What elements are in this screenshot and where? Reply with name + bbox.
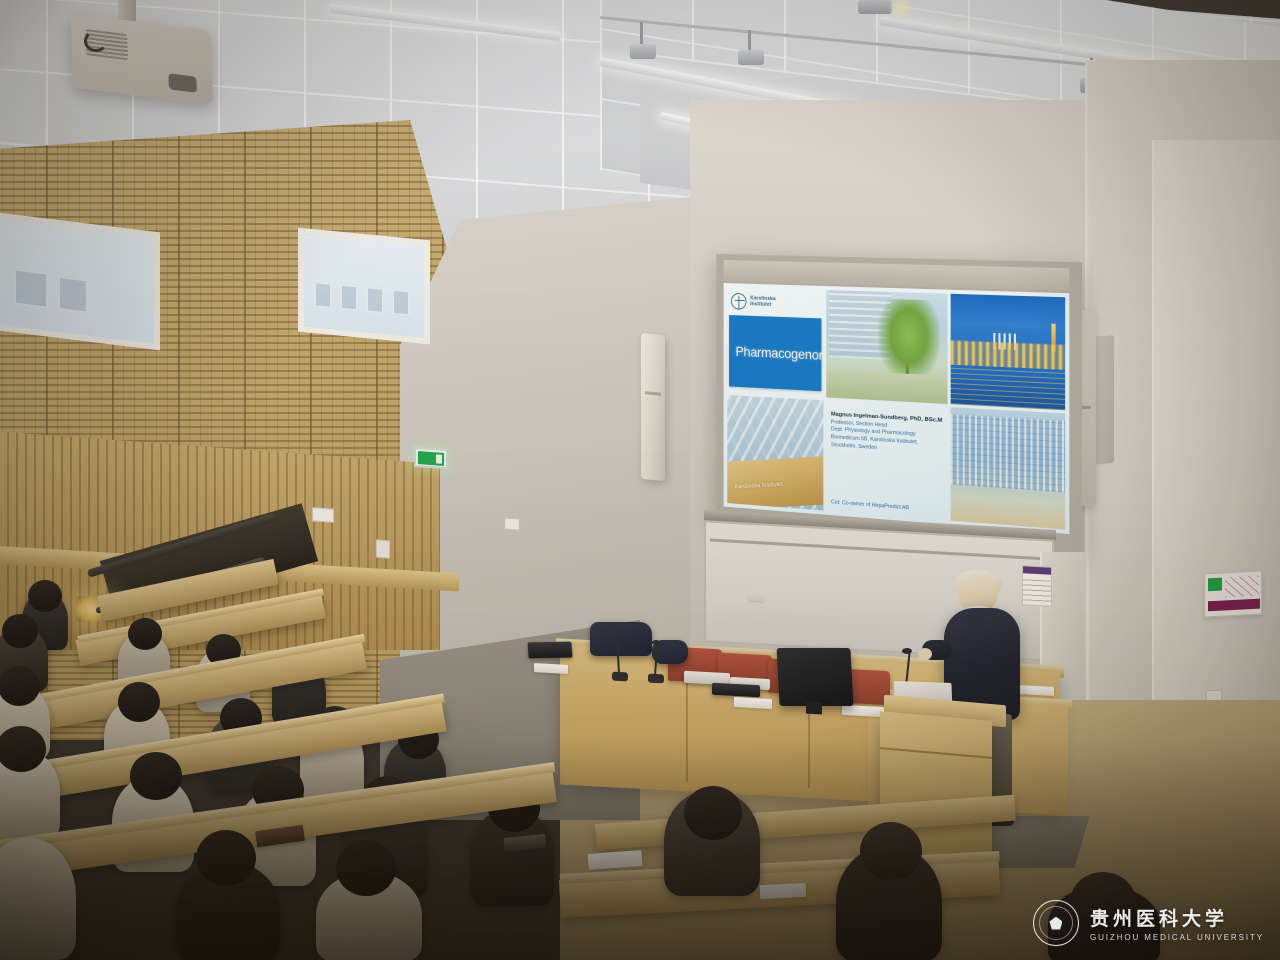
- floor-plan-diagram: [1225, 576, 1259, 598]
- emergency-exit-icon: [1208, 578, 1222, 592]
- lecture-hall-photo: Karolinska Institutet Pharmacogenomics: [0, 0, 1280, 960]
- window-building-detail: [58, 276, 88, 314]
- campus-courtyard-photo: [826, 290, 947, 404]
- tree-canopy: [879, 298, 940, 382]
- notice-text-lines: [1023, 576, 1051, 601]
- watermark-chinese-name: 贵州医科大学: [1090, 904, 1264, 931]
- exit-icon: [418, 451, 444, 466]
- slide-title: Pharmacogenomics: [736, 344, 824, 364]
- ki-wordmark: Karolinska Institutet: [750, 295, 776, 308]
- evacuation-sign-footer: [1208, 599, 1260, 612]
- window-building-detail: [366, 286, 384, 314]
- wall-notice-sign: [1022, 565, 1052, 607]
- notice-header-bar: [1023, 566, 1051, 574]
- monitor-stand: [806, 702, 822, 715]
- laptop-case[interactable]: [712, 683, 760, 698]
- ki-logo-line2: Institutet: [750, 301, 776, 308]
- podium-microphone-head: [902, 648, 912, 654]
- watermark-english-name: GUIZHOU MEDICAL UNIVERSITY: [1090, 933, 1264, 942]
- av-control-unit[interactable]: [527, 642, 572, 659]
- presentation-slide: Karolinska Institutet Pharmacogenomics: [724, 283, 1070, 534]
- microphone-head: [652, 640, 660, 645]
- window-building-detail: [314, 281, 332, 309]
- water-reflection: [950, 365, 1065, 411]
- notebook[interactable]: [760, 883, 807, 899]
- audience-head: [684, 786, 742, 840]
- university-seal-icon: [1033, 900, 1079, 946]
- watermark: 贵州医科大学 GUIZHOU MEDICAL UNIVERSITY: [1033, 900, 1264, 946]
- karolinska-institutet-logo: Karolinska Institutet: [727, 287, 823, 316]
- audience-head: [860, 822, 922, 880]
- audience-head: [336, 840, 396, 896]
- window-building-detail: [392, 289, 410, 317]
- slide-title-block: Karolinska Institutet Pharmacogenomics: [727, 287, 823, 398]
- audience-head: [196, 830, 256, 886]
- track-spotlight: [630, 44, 656, 59]
- projector-cable: [84, 30, 108, 52]
- audience-head: [28, 580, 62, 612]
- conflict-of-interest-note: CoI: Co-owner of HepaPredict AB: [831, 499, 909, 511]
- papers[interactable]: [734, 697, 772, 709]
- audience-head: [2, 614, 38, 648]
- courtyard-ground: [826, 370, 947, 405]
- seal-emblem-icon: [1049, 917, 1062, 930]
- desktop-monitor[interactable]: [777, 648, 854, 706]
- audience-head: [118, 682, 160, 722]
- slide-title-box: Pharmacogenomics: [729, 315, 821, 392]
- biomedicum-facade-photo: Karolinska Institutet: [727, 395, 823, 510]
- audience-head: [128, 618, 162, 650]
- spotlight-stem: [640, 22, 643, 44]
- papers[interactable]: [534, 663, 568, 674]
- wall-notice: [376, 540, 390, 559]
- papers[interactable]: [1020, 685, 1054, 696]
- evacuation-plan-sign: [1204, 570, 1262, 617]
- microphone-head: [614, 634, 622, 639]
- wall-plate: [312, 507, 334, 523]
- spotlight-stem: [748, 30, 751, 50]
- projection-screen: Karolinska Institutet Pharmacogenomics: [716, 254, 1082, 556]
- stockholm-night-skyline-photo: [950, 294, 1065, 411]
- wall-speaker-left: [641, 333, 665, 481]
- window-building-detail: [14, 269, 48, 309]
- papers[interactable]: [842, 705, 884, 717]
- presenter-bio-block: Magnus Ingelman-Sundberg, PhD, BSc.M Pro…: [826, 401, 947, 521]
- audience-head: [130, 752, 182, 800]
- exit-sign: [414, 447, 448, 469]
- window-building-detail: [340, 284, 358, 312]
- projector-lens: [168, 73, 197, 93]
- whiteboard-marker[interactable]: [748, 596, 764, 602]
- desk-panel-seam: [686, 672, 688, 782]
- laboratory-building-photo: [950, 408, 1065, 530]
- track-spotlight: [738, 50, 764, 65]
- ki-emblem-icon: [731, 292, 747, 309]
- window-right: [298, 228, 430, 345]
- backpack[interactable]: [590, 622, 652, 656]
- window-left: [0, 212, 160, 351]
- presenter-hand: [918, 648, 932, 660]
- watermark-text: 贵州医科大学 GUIZHOU MEDICAL UNIVERSITY: [1090, 904, 1264, 942]
- wall-switch-plate[interactable]: [504, 517, 520, 530]
